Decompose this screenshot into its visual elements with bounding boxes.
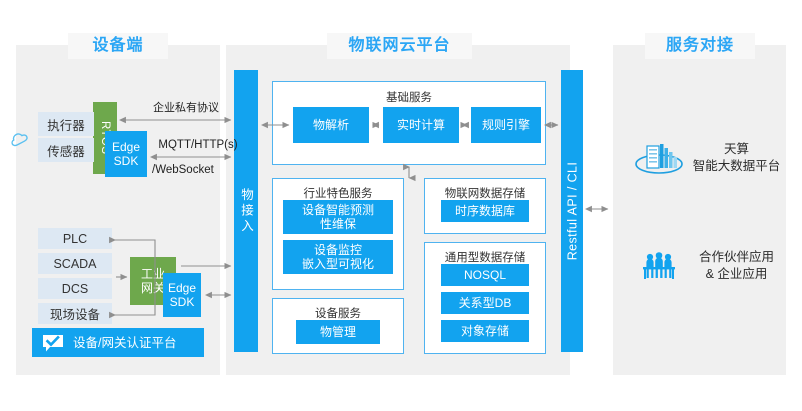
bigdata-building-icon [631, 138, 687, 178]
device-scada: SCADA [38, 253, 112, 274]
edge-sdk2-line2: SDK [170, 295, 195, 309]
group-basic-service-label: 基础服务 [273, 89, 545, 105]
predictive-line1: 设备智能预测 [302, 203, 374, 217]
service-item-partner: 合作伙伴应用 & 企业应用 [631, 243, 786, 289]
storage-nosql: NOSQL [441, 264, 529, 286]
gateway-edge-sdk-block: Edge SDK [163, 273, 201, 317]
device-dcs: DCS [38, 278, 112, 299]
service-predictive-maintenance: 设备智能预测 性维保 [283, 200, 393, 234]
column-title-cloud: 物联网云平台 [327, 33, 472, 59]
label-websocket: /WebSocket [152, 164, 244, 176]
auth-platform-label: 设备/网关认证平台 [73, 336, 176, 350]
bigdata-line2: 智能大数据平台 [693, 159, 781, 173]
group-iot-storage-label: 物联网数据存储 [425, 185, 545, 201]
storage-relational-db: 关系型DB [441, 292, 529, 314]
service-device-monitoring: 设备监控 嵌入型可视化 [283, 240, 393, 274]
service-rule-engine: 规则引擎 [471, 107, 541, 143]
storage-timeseries-db: 时序数据库 [441, 200, 529, 222]
service-thing-parse: 物解析 [293, 107, 369, 143]
restful-api-cli-bar: Restful API / CLI [561, 70, 583, 352]
gateway-line1: 工业 [141, 267, 165, 281]
partners-meeting-icon [631, 246, 687, 286]
device-edge-sdk-block: Edge SDK [105, 131, 147, 177]
cloud-icon [9, 129, 33, 149]
device-plc: PLC [38, 228, 112, 249]
group-industry-service-label: 行业特色服务 [273, 185, 403, 201]
gateway-line2: 网关 [141, 281, 165, 295]
service-realtime-compute: 实时计算 [383, 107, 459, 143]
partner-line2: & 企业应用 [706, 267, 768, 281]
edge-sdk-line2: SDK [114, 154, 139, 168]
monitoring-line2: 嵌入型可视化 [302, 257, 374, 271]
check-badge-icon [42, 334, 64, 352]
predictive-line2: 性维保 [320, 217, 356, 231]
service-thing-management: 物管理 [296, 320, 380, 344]
monitoring-line1: 设备监控 [314, 243, 362, 257]
auth-platform-bar: 设备/网关认证平台 [32, 328, 204, 357]
diagram-canvas: 设备端 物联网云平台 服务对接 执行器 传感器 RTOS Edge SDK 企业… [0, 0, 802, 411]
label-mqtt-http: MQTT/HTTP(s) [152, 137, 244, 153]
device-actuator: 执行器 [38, 112, 94, 136]
group-general-storage-label: 通用型数据存储 [425, 249, 545, 265]
partner-line1: 合作伙伴应用 [699, 250, 774, 264]
group-device-service-label: 设备服务 [273, 305, 403, 321]
service-item-bigdata-text: 天算 智能大数据平台 [687, 141, 786, 175]
column-title-service: 服务对接 [645, 33, 755, 59]
device-field-device: 现场设备 [38, 303, 112, 324]
service-item-partner-text: 合作伙伴应用 & 企业应用 [687, 249, 786, 283]
column-title-device: 设备端 [68, 33, 168, 59]
bigdata-line1: 天算 [724, 142, 749, 156]
edge-sdk-line1: Edge [112, 140, 140, 154]
edge-sdk2-line1: Edge [168, 281, 196, 295]
panel-device-side [16, 45, 220, 375]
restful-api-cli-label: Restful API / CLI [565, 162, 579, 261]
thing-access-label: 物接入 [239, 188, 253, 235]
storage-object-storage: 对象存储 [441, 320, 529, 342]
panel-service-integration [613, 45, 786, 375]
label-private-protocol: 企业私有协议 [131, 99, 241, 115]
device-sensor: 传感器 [38, 138, 94, 162]
service-item-bigdata: 天算 智能大数据平台 [631, 135, 786, 181]
